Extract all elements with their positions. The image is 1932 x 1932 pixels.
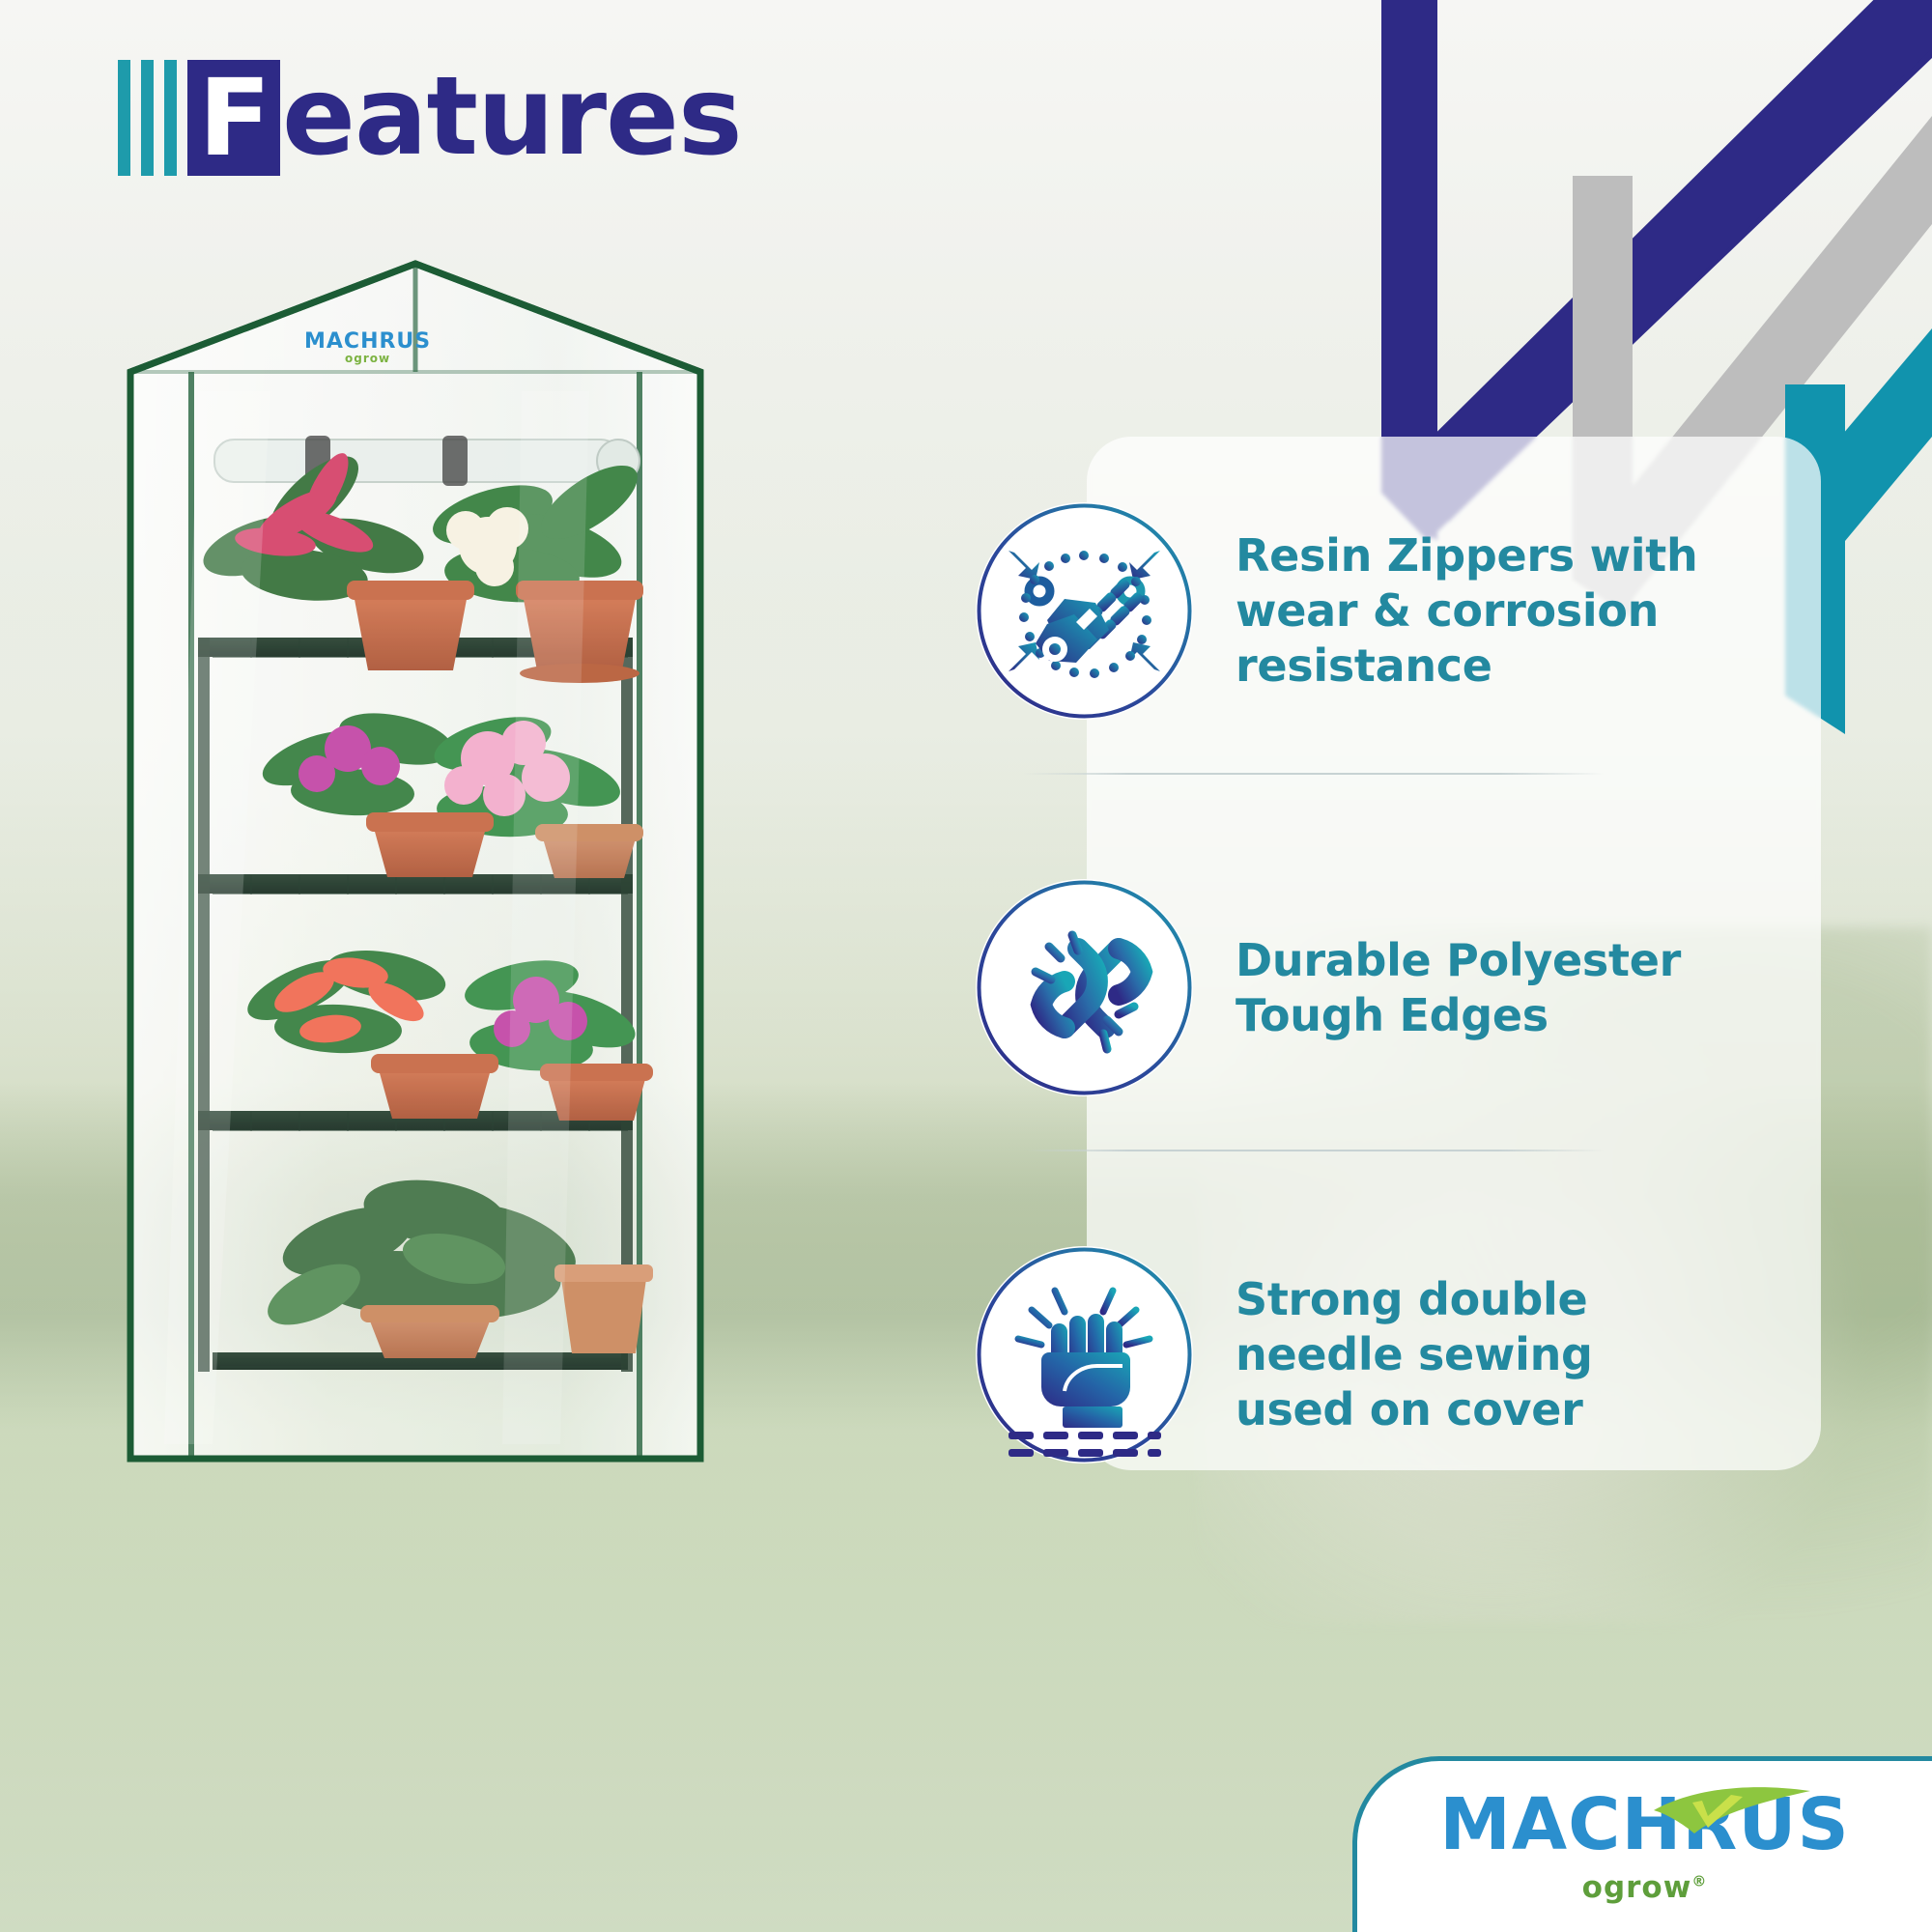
fist-sewing-icon <box>976 1246 1193 1463</box>
cover-brand-logo: MACHRUS ogrow <box>304 331 431 364</box>
title-first-letter: F <box>198 65 269 171</box>
cover-brand-sub: ogrow <box>304 353 431 364</box>
zipper-icon <box>976 502 1193 720</box>
chain-link-icon-badge <box>976 879 1193 1096</box>
brand-logo-badge: MACHRUS ogrow® <box>1352 1756 1932 1932</box>
feature-item-durable-polyester: Durable Polyester Tough Edges <box>976 879 1826 1096</box>
page-title: F eatures <box>118 60 742 176</box>
greenhouse-illustration <box>106 256 724 1512</box>
brand-sub: ogrow® <box>1582 1870 1708 1905</box>
feature-label: Durable Polyester Tough Edges <box>1236 933 1681 1043</box>
feature-item-double-needle-sewing: Strong double needle sewing used on cove… <box>976 1246 1826 1463</box>
feature-divider-1 <box>1024 773 1604 775</box>
brand-sub-text: ogrow <box>1582 1870 1692 1905</box>
title-accent-bar-2 <box>141 60 154 176</box>
chain-link-icon <box>976 879 1193 1096</box>
cover-brand-name: MACHRUS <box>304 331 431 353</box>
title-accent-bar-1 <box>118 60 130 176</box>
feature-label: Resin Zippers with wear & corrosion resi… <box>1236 528 1697 694</box>
feature-label: Strong double needle sewing used on cove… <box>1236 1272 1593 1437</box>
registered-mark: ® <box>1691 1872 1707 1889</box>
product-image-greenhouse: MACHRUS ogrow <box>106 256 724 1512</box>
feature-item-resin-zippers: Resin Zippers with wear & corrosion resi… <box>976 502 1826 720</box>
title-rest-text: eatures <box>282 60 742 176</box>
brand-name-text: MACHRUS <box>1439 1783 1850 1866</box>
brand-name: MACHRUS <box>1439 1789 1850 1861</box>
feature-divider-2 <box>1024 1150 1604 1151</box>
title-letter-box: F <box>187 60 280 176</box>
title-accent-bar-3 <box>164 60 177 176</box>
fist-sewing-icon-badge <box>976 1246 1193 1463</box>
zipper-icon-badge <box>976 502 1193 720</box>
